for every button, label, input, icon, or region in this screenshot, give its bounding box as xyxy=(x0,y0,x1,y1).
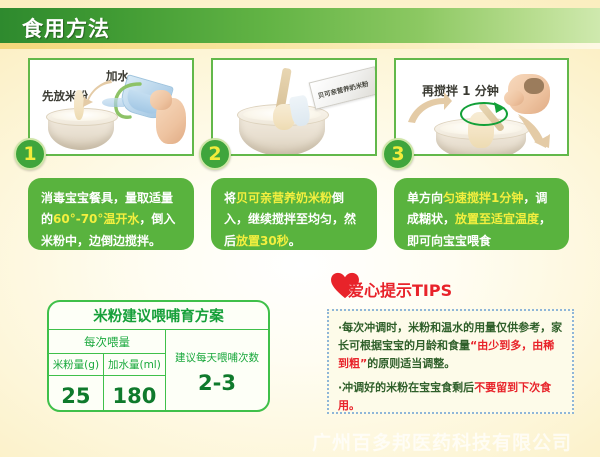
desc-text: 。 xyxy=(289,234,301,248)
tips-box: ·每次冲调时，米粉和温水的用量仅供参考，家长可根据宝宝的月龄和食量“由少到多，由… xyxy=(327,309,574,414)
tips-title: 爱心提示TIPS xyxy=(348,277,452,301)
table-frequency-value: 2-3 xyxy=(166,365,268,395)
page-header: 食用方法 xyxy=(0,8,600,43)
step-3-description: 单方向匀速搅拌1分钟，调成糊状，放置至适宜温度，即可向宝宝喂食 xyxy=(394,178,569,250)
tips-item: ·每次冲调时，米粉和温水的用量仅供参考，家长可根据宝宝的月龄和食量“由少到多，由… xyxy=(338,319,563,372)
step-2-illustration: 贝可亲营养奶米粉 xyxy=(211,58,377,156)
company-watermark: 广州百多邦医药科技有限公司 xyxy=(312,428,572,455)
step-1-description: 消毒宝宝餐具，量取适量的60°-70°温开水，倒入米粉中，边倒边搅拌。 xyxy=(28,178,194,250)
table-row-group-header: 每次喂量 建议每天喂哺次数 2-3 xyxy=(49,330,268,354)
water-pour-stream xyxy=(102,98,124,107)
arrow-right-icon xyxy=(516,112,556,148)
step-1-illustration: 先放米粉 加水 xyxy=(28,58,194,156)
desc-highlight: 匀速搅拌1分钟 xyxy=(443,191,523,205)
desc-highlight: 贝可亲营养奶米粉 xyxy=(236,191,332,205)
step-2-description: 将贝可亲营养奶米粉倒入，继续搅拌至均匀，然后放置30秒。 xyxy=(211,178,377,250)
table-title: 米粉建议喂哺育方案 xyxy=(49,302,268,330)
page-title: 食用方法 xyxy=(22,13,110,43)
step-badge-1: 1 xyxy=(14,138,46,170)
table-row-title: 米粉建议喂哺育方案 xyxy=(49,302,268,330)
desc-highlight: 放置至适宜温度 xyxy=(455,212,539,226)
thumb-shape xyxy=(150,90,172,110)
step-badge-3: 3 xyxy=(382,138,414,170)
tips-text: 的原则适当调整。 xyxy=(367,357,455,370)
step-3-illustration: 再搅拌 1 分钟 xyxy=(394,58,569,156)
tips-item: ·冲调好的米粉在宝宝食剩后不要留到下次食用。 xyxy=(338,379,563,415)
page-root: 食用方法 先放米粉 加水 xyxy=(0,0,600,457)
thumb-nail xyxy=(524,78,544,94)
desc-text: 将 xyxy=(224,191,236,205)
desc-highlight: 放置30秒 xyxy=(236,234,289,248)
desc-text: 单方向 xyxy=(407,191,443,205)
table-frequency-cell: 建议每天喂哺次数 2-3 xyxy=(166,330,268,413)
table: 米粉建议喂哺育方案 每次喂量 建议每天喂哺次数 2-3 米粉量(g) 加水量(m… xyxy=(49,302,268,412)
table-value-water: 180 xyxy=(103,376,165,413)
table-col-header-powder: 米粉量(g) xyxy=(49,354,103,376)
stir-arrowhead-icon xyxy=(492,100,508,116)
desc-highlight: 60°-70°温开水 xyxy=(53,212,139,226)
table-right-header: 建议每天喂哺次数 xyxy=(166,350,268,365)
header-underline-strip xyxy=(0,43,600,49)
arrow-left-icon xyxy=(406,92,452,126)
table-value-powder: 25 xyxy=(49,376,103,413)
table-col-header-water: 加水量(ml) xyxy=(103,354,165,376)
step-panels: 先放米粉 加水 xyxy=(0,58,600,168)
table-group-header: 每次喂量 xyxy=(49,330,166,354)
step-badge-2: 2 xyxy=(199,138,231,170)
feeding-plan-table: 米粉建议喂哺育方案 每次喂量 建议每天喂哺次数 2-3 米粉量(g) 加水量(m… xyxy=(47,300,270,412)
tips-text: ·冲调好的米粉在宝宝食剩后 xyxy=(338,381,474,394)
